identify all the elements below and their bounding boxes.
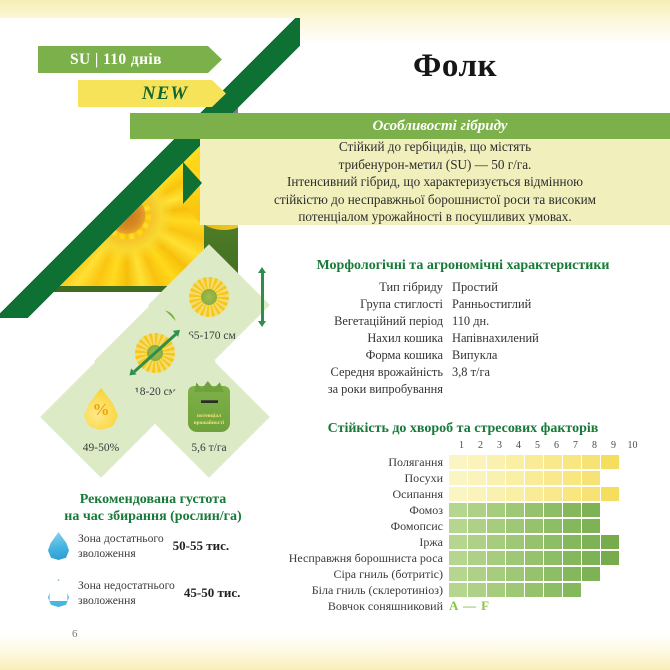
oil-drop-icon: % [84, 388, 118, 430]
resistance-chart: 12345678910 ПоляганняПосухиОсипанняФомоз… [256, 440, 670, 614]
page-number: 6 [72, 628, 78, 640]
resistance-cell [468, 471, 486, 485]
density-zone-insufficient: Зона недостатнього зволоження 45-50 тис. [48, 578, 240, 608]
oil-content-caption: 49-50% [40, 442, 162, 454]
resistance-row-label: Полягання [256, 455, 449, 470]
morphology-value: Ранньостиглий [452, 296, 670, 313]
resistance-row-label: Фомопсис [256, 519, 449, 534]
resistance-cell [487, 471, 505, 485]
morphology-key: Вегетаційний період [256, 313, 452, 330]
resistance-row: Несправжня борошниста роса [256, 550, 670, 566]
morphology-row: Середня врожайність3,8 т/га [256, 364, 670, 381]
resistance-cell [468, 455, 486, 469]
density-heading-line1: Рекомендована густота [38, 492, 268, 508]
resistance-cell [563, 455, 581, 469]
resistance-cell [582, 503, 600, 517]
bottom-gradient-band [0, 634, 670, 670]
resistance-row-cells [449, 487, 620, 501]
resistance-cell [449, 567, 467, 581]
resistance-row-label: Посухи [256, 471, 449, 486]
resistance-row: Фомопсис [256, 518, 670, 534]
resistance-cell [506, 503, 524, 517]
features-header-label: Особливості гібриду [130, 118, 670, 135]
features-body-text: Стійкий до гербіцидів, що містять трибен… [260, 138, 610, 226]
morphology-value: 110 дн. [452, 313, 670, 330]
yield-caption: 5,6 т/га [148, 442, 270, 454]
morphology-value: Простий [452, 279, 670, 296]
resistance-cell [449, 583, 467, 597]
icon-card-yield: ▬▬ потенціал врожайності 5,6 т/га [148, 378, 270, 454]
resistance-row-label: Іржа [256, 535, 449, 550]
resistance-cell [449, 455, 467, 469]
resistance-cell [525, 471, 543, 485]
scale-tick: 1 [452, 440, 471, 451]
resistance-cell [506, 535, 524, 549]
hybrid-title: Фолк [240, 48, 670, 85]
resistance-row: Полягання [256, 454, 670, 470]
scale-tick: 3 [490, 440, 509, 451]
density-zone-value: 45-50 тис. [184, 585, 240, 601]
seeds-glyph: ▬▬ [188, 395, 230, 405]
density-zone-label: Зона недостатнього зволоження [78, 578, 175, 608]
resistance-cell [544, 487, 562, 501]
morphology-key: за роки випробування [256, 381, 452, 398]
resistance-cell [563, 503, 581, 517]
resistance-cell [468, 583, 486, 597]
catalog-page: SU | 110 днів NEW Фолк Особливості гібри… [0, 0, 670, 670]
resistance-row-label: Несправжня борошниста роса [256, 551, 449, 566]
resistance-cell [544, 567, 562, 581]
resistance-cell [487, 551, 505, 565]
resistance-cell [525, 535, 543, 549]
resistance-cell [506, 567, 524, 581]
resistance-cell [468, 519, 486, 533]
scale-tick: 9 [604, 440, 623, 451]
resistance-cell [506, 455, 524, 469]
resistance-cell [563, 535, 581, 549]
resistance-cell [468, 551, 486, 565]
morphology-row: Вегетаційний період110 дн. [256, 313, 670, 330]
water-drop-full-icon [48, 532, 69, 560]
scale-tick: 6 [547, 440, 566, 451]
resistance-cell [525, 519, 543, 533]
morphology-value: Напівнахилений [452, 330, 670, 347]
resistance-cell [582, 567, 600, 581]
features-header-bar: Особливості гібриду [130, 113, 670, 139]
broomrape-row: Вовчок соняшниковий A — F [256, 598, 670, 614]
resistance-row-cells [449, 583, 582, 597]
resistance-cell [525, 583, 543, 597]
new-badge-label: NEW [142, 83, 188, 105]
morphology-row: Нахил кошикаНапівнахилений [256, 330, 670, 347]
resistance-cell [563, 487, 581, 501]
resistance-cell [449, 551, 467, 565]
resistance-cell [525, 503, 543, 517]
chevron-right-icon [183, 162, 202, 204]
features-body: Стійкий до гербіцидів, що містять трибен… [200, 139, 670, 225]
resistance-cell [582, 471, 600, 485]
resistance-row: Біла гниль (склеротиніоз) [256, 582, 670, 598]
resistance-cell [563, 583, 581, 597]
oil-content-icon: % [40, 378, 162, 440]
resistance-row-label: Фомоз [256, 503, 449, 518]
new-badge: NEW [78, 80, 226, 107]
morphology-value: 3,8 т/га [452, 364, 670, 381]
resistance-cell [544, 535, 562, 549]
resistance-cell [563, 551, 581, 565]
resistance-row: Іржа [256, 534, 670, 550]
resistance-cell [449, 487, 467, 501]
resistance-row-label: Біла гниль (склеротиніоз) [256, 583, 449, 598]
resistance-cell [525, 551, 543, 565]
morphology-key: Тип гібриду [256, 279, 452, 296]
resistance-cell [449, 503, 467, 517]
resistance-row-label: Сіра гниль (ботритіс) [256, 567, 449, 582]
resistance-cell [487, 455, 505, 469]
morphology-key: Група стиглості [256, 296, 452, 313]
scale-tick: 2 [471, 440, 490, 451]
resistance-cell [525, 455, 543, 469]
resistance-cell [506, 519, 524, 533]
scale-tick: 5 [528, 440, 547, 451]
resistance-row-label: Осипання [256, 487, 449, 502]
yield-potential-icon: ▬▬ потенціал врожайності [148, 378, 270, 440]
seed-bag-label: потенціал врожайності [194, 413, 225, 432]
resistance-cell [563, 567, 581, 581]
resistance-cell [487, 487, 505, 501]
seed-bag-icon: ▬▬ потенціал врожайності [188, 386, 230, 432]
su-badge-label: SU | 110 днів [70, 51, 162, 69]
resistance-cell [449, 535, 467, 549]
resistance-cell [601, 551, 619, 565]
scale-tick: 4 [509, 440, 528, 451]
resistance-cell [487, 535, 505, 549]
density-zone-sufficient: Зона достатнього зволоження 50-55 тис. [48, 531, 229, 561]
resistance-row: Посухи [256, 470, 670, 486]
resistance-cell [582, 455, 600, 469]
su-maturity-badge: SU | 110 днів [38, 46, 222, 73]
resistance-cell [449, 471, 467, 485]
density-zone-value: 50-55 тис. [173, 538, 229, 554]
resistance-cell [544, 519, 562, 533]
morphology-key: Середня врожайність [256, 364, 452, 381]
resistance-cell [487, 519, 505, 533]
resistance-cell [506, 471, 524, 485]
resistance-row-cells [449, 471, 601, 485]
resistance-row-cells [449, 535, 620, 549]
resistance-cell [506, 551, 524, 565]
resistance-cell [487, 583, 505, 597]
resistance-cell [582, 519, 600, 533]
resistance-cell [544, 471, 562, 485]
resistance-cell [487, 567, 505, 581]
morphology-key: Форма кошика [256, 347, 452, 364]
morphology-value [452, 381, 670, 398]
resistance-cell [468, 503, 486, 517]
resistance-row-cells [449, 503, 601, 517]
resistance-row-cells [449, 567, 601, 581]
resistance-cell [525, 567, 543, 581]
resistance-cell [468, 487, 486, 501]
broomrape-label: Вовчок соняшниковий [256, 599, 449, 614]
density-heading-line2: на час збирання (рослин/га) [38, 509, 268, 525]
resistance-cell [582, 551, 600, 565]
resistance-cell [601, 487, 619, 501]
sunflower-icon [189, 277, 229, 317]
density-zone-label: Зона достатнього зволоження [78, 531, 164, 561]
resistance-cell [544, 503, 562, 517]
morphology-heading: Морфологічні та агрономічні характеристи… [256, 258, 670, 274]
scale-tick: 7 [566, 440, 585, 451]
resistance-row: Сіра гниль (ботритіс) [256, 566, 670, 582]
resistance-cell [544, 583, 562, 597]
resistance-cell [544, 455, 562, 469]
resistance-cell [468, 567, 486, 581]
resistance-cell [544, 551, 562, 565]
water-drop-empty-icon [48, 579, 69, 607]
resistance-cell [563, 471, 581, 485]
morphology-table: Тип гібридуПростийГрупа стиглостіРанньос… [256, 279, 670, 398]
scale-tick: 8 [585, 440, 604, 451]
morphology-key: Нахил кошика [256, 330, 452, 347]
resistance-scale-axis: 12345678910 [452, 440, 670, 454]
resistance-cell [601, 535, 619, 549]
morphology-row: Група стиглостіРанньостиглий [256, 296, 670, 313]
scale-tick: 10 [623, 440, 642, 451]
morphology-row: за роки випробування [256, 381, 670, 398]
resistance-cell [506, 487, 524, 501]
resistance-row-cells [449, 551, 620, 565]
resistance-cell [468, 535, 486, 549]
resistance-cell [449, 519, 467, 533]
resistance-cell [487, 503, 505, 517]
resistance-cell [601, 455, 619, 469]
morphology-row: Тип гібридуПростий [256, 279, 670, 296]
resistance-row: Фомоз [256, 502, 670, 518]
oil-percent-glyph: % [93, 401, 110, 418]
resistance-heading: Стійкість до хвороб та стресових факторі… [256, 421, 670, 437]
resistance-row: Осипання [256, 486, 670, 502]
broomrape-value: A — F [449, 598, 490, 614]
resistance-cell [525, 487, 543, 501]
resistance-cell [582, 535, 600, 549]
resistance-cell [563, 519, 581, 533]
resistance-cell [582, 487, 600, 501]
icon-card-oil-content: % 49-50% [40, 378, 162, 454]
morphology-value: Випукла [452, 347, 670, 364]
resistance-cell [506, 583, 524, 597]
resistance-row-cells [449, 519, 601, 533]
morphology-row: Форма кошикаВипукла [256, 347, 670, 364]
resistance-row-cells [449, 455, 620, 469]
